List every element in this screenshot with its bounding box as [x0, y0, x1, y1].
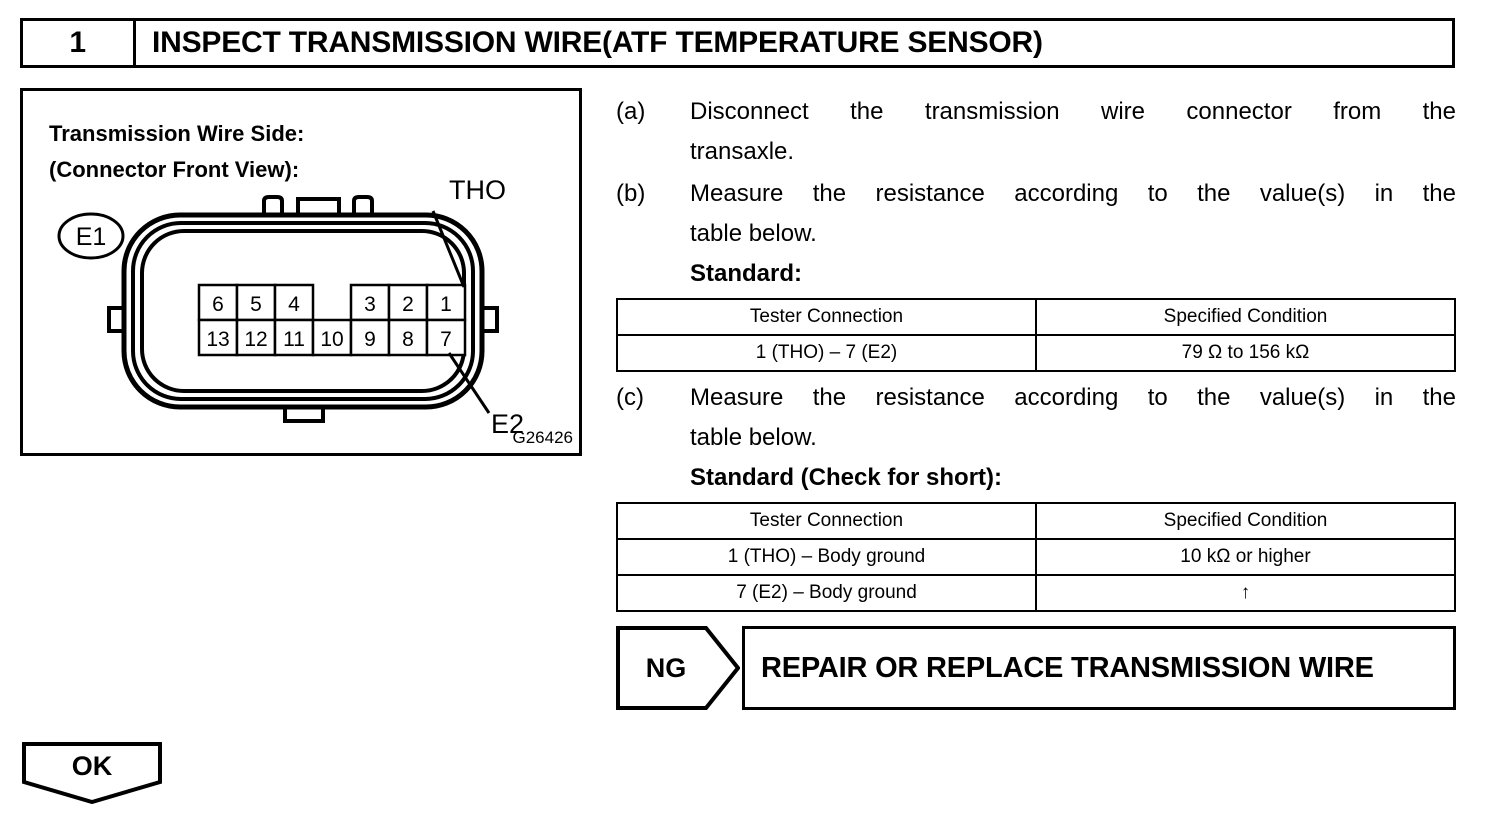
svg-text:E1: E1 [76, 223, 107, 251]
column-header-tester-connection: Tester Connection [617, 503, 1036, 539]
table-row: 1 (THO) – 7 (E2) 79 Ω to 156 kΩ [617, 335, 1455, 371]
standard-label: Standard: [690, 254, 1456, 294]
column-header-specified-condition: Specified Condition [1036, 503, 1455, 539]
instruction-a: (a) Disconnect the transmission wire con… [616, 92, 1456, 172]
service-manual-page: 1 INSPECT TRANSMISSION WIRE(ATF TEMPERAT… [0, 0, 1504, 822]
column-header-specified-condition: Specified Condition [1036, 299, 1455, 335]
svg-text:13: 13 [206, 328, 229, 351]
standard-label: Standard (Check for short): [690, 458, 1456, 498]
ng-result-row: NG REPAIR OR REPLACE TRANSMISSION WIRE [616, 626, 1456, 710]
svg-text:6: 6 [212, 293, 224, 316]
cell-tester-connection: 1 (THO) – Body ground [617, 539, 1036, 575]
svg-text:THO: THO [449, 175, 506, 205]
svg-text:1: 1 [440, 293, 452, 316]
instruction-line: table below. [690, 418, 1456, 458]
short-check-spec-table: Tester Connection Specified Condition 1 … [616, 502, 1456, 612]
ng-badge-label: NG [616, 626, 716, 710]
page-title: INSPECT TRANSMISSION WIRE(ATF TEMPERATUR… [136, 21, 1452, 65]
instruction-b: (b) Measure the resistance according to … [616, 174, 1456, 294]
svg-text:5: 5 [250, 293, 262, 316]
connector-diagram: E1 [23, 91, 582, 456]
svg-text:7: 7 [440, 328, 452, 351]
instruction-line: Disconnect the transmission wire connect… [690, 92, 1456, 132]
svg-text:9: 9 [364, 328, 376, 351]
instruction-marker: (c) [616, 378, 690, 498]
step-number: 1 [23, 21, 136, 65]
table-row: 1 (THO) – Body ground 10 kΩ or higher [617, 539, 1455, 575]
instruction-line: Measure the resistance according to the … [690, 378, 1456, 418]
instruction-text: Measure the resistance according to the … [690, 378, 1456, 498]
svg-text:2: 2 [402, 293, 414, 316]
cell-tester-connection: 7 (E2) – Body ground [617, 575, 1036, 611]
svg-text:12: 12 [244, 328, 267, 351]
figure-id: G26426 [513, 428, 574, 447]
instruction-text: Disconnect the transmission wire connect… [690, 92, 1456, 172]
svg-text:3: 3 [364, 293, 376, 316]
procedure-content: (a) Disconnect the transmission wire con… [616, 92, 1456, 710]
cell-specified-condition: 79 Ω to 156 kΩ [1036, 335, 1455, 371]
instruction-line: table below. [690, 214, 1456, 254]
svg-text:4: 4 [288, 293, 300, 316]
ng-action-text: REPAIR OR REPLACE TRANSMISSION WIRE [742, 626, 1456, 710]
cell-specified-condition: ↑ [1036, 575, 1455, 611]
cell-tester-connection: 1 (THO) – 7 (E2) [617, 335, 1036, 371]
instruction-marker: (a) [616, 92, 690, 172]
svg-text:10: 10 [320, 328, 343, 351]
ok-badge-label: OK [22, 742, 162, 790]
table-header-row: Tester Connection Specified Condition [617, 503, 1455, 539]
instruction-c: (c) Measure the resistance according to … [616, 378, 1456, 498]
instruction-marker: (b) [616, 174, 690, 294]
step-header: 1 INSPECT TRANSMISSION WIRE(ATF TEMPERAT… [20, 18, 1455, 68]
instruction-line: transaxle. [690, 132, 1456, 172]
svg-text:8: 8 [402, 328, 414, 351]
instruction-text: Measure the resistance according to the … [690, 174, 1456, 294]
svg-text:11: 11 [283, 328, 305, 351]
connector-figure-panel: Transmission Wire Side: (Connector Front… [20, 88, 582, 456]
column-header-tester-connection: Tester Connection [617, 299, 1036, 335]
cell-specified-condition: 10 kΩ or higher [1036, 539, 1455, 575]
connector-id-badge: E1 [59, 214, 123, 258]
table-row: 7 (E2) – Body ground ↑ [617, 575, 1455, 611]
instruction-line: Measure the resistance according to the … [690, 174, 1456, 214]
table-header-row: Tester Connection Specified Condition [617, 299, 1455, 335]
standard-spec-table: Tester Connection Specified Condition 1 … [616, 298, 1456, 372]
